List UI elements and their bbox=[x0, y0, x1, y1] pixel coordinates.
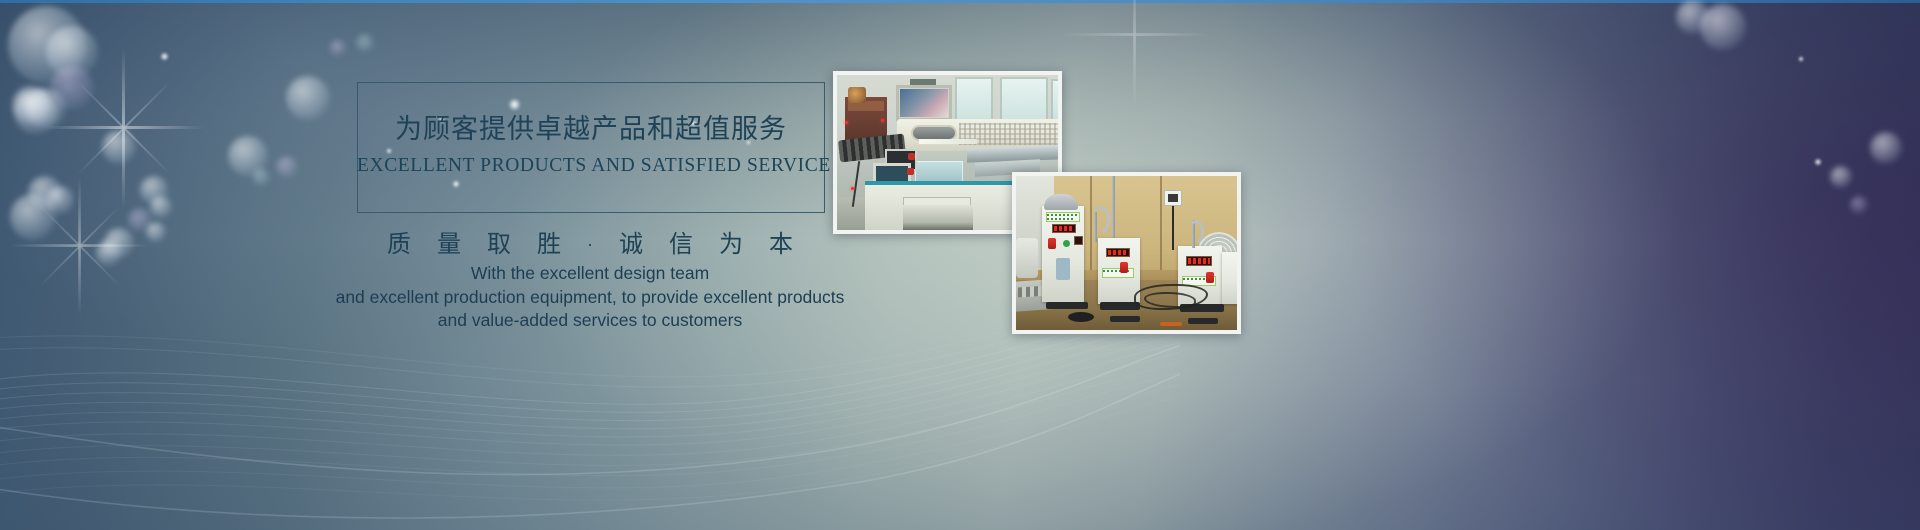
photo-content bbox=[1016, 176, 1237, 330]
foot-pedal bbox=[1110, 316, 1140, 322]
led-display bbox=[1052, 224, 1076, 233]
small-display bbox=[1074, 236, 1083, 245]
machine-cap bbox=[1044, 194, 1078, 210]
indicator-light bbox=[851, 187, 854, 190]
slogan-char: 信 bbox=[669, 231, 693, 258]
slogan-chinese: 质量取胜·诚信为本 bbox=[330, 224, 850, 259]
indicator-light bbox=[845, 121, 848, 124]
slogan-char: 诚 bbox=[619, 231, 643, 258]
slogan-char: 质 bbox=[387, 231, 411, 258]
sparkle bbox=[1798, 56, 1804, 62]
label-text bbox=[1047, 218, 1073, 220]
machine-part bbox=[1056, 258, 1070, 280]
red-button bbox=[1120, 262, 1128, 273]
bokeh-circle bbox=[1830, 166, 1852, 188]
bokeh-circle bbox=[1870, 132, 1902, 164]
paragraph-line: and value-added services to customers bbox=[260, 309, 920, 333]
vertical-pipe bbox=[1112, 176, 1115, 240]
paragraph-line: With the excellent design team bbox=[260, 262, 920, 286]
machine-lamp bbox=[919, 139, 977, 144]
label-text bbox=[1047, 214, 1077, 216]
description-paragraph: With the excellent design team and excel… bbox=[260, 262, 920, 333]
starburst-icon bbox=[1060, 0, 1210, 110]
glass-cover bbox=[915, 161, 963, 183]
headline-english: EXCELLENT PRODUCTS AND SATISFIED SERVICE bbox=[357, 155, 825, 177]
bokeh-circle bbox=[1700, 4, 1746, 50]
indicator-light bbox=[881, 119, 884, 122]
desk-opening bbox=[903, 205, 973, 230]
foot-pedal bbox=[1188, 318, 1218, 324]
slogan-char: 量 bbox=[437, 231, 461, 258]
slogan-separator-dot: · bbox=[587, 234, 593, 254]
slogan-char: 为 bbox=[719, 231, 743, 258]
paragraph-line: and excellent production equipment, to p… bbox=[260, 286, 920, 310]
wall-monitor bbox=[896, 85, 952, 121]
metal-tank bbox=[1016, 238, 1038, 278]
wall-outlet bbox=[1164, 190, 1182, 206]
bokeh-circle bbox=[1850, 196, 1868, 214]
red-button bbox=[908, 153, 915, 160]
power-cord bbox=[1172, 206, 1174, 250]
led-display bbox=[1186, 256, 1212, 266]
green-button bbox=[1063, 240, 1070, 247]
workshop-machines-photo[interactable] bbox=[1012, 172, 1241, 334]
sparkle bbox=[1814, 158, 1822, 166]
slogan-char: 取 bbox=[487, 231, 511, 258]
slogan-char: 本 bbox=[769, 231, 793, 258]
led-display bbox=[1106, 248, 1130, 257]
press-machine bbox=[1222, 252, 1241, 304]
decor-object bbox=[848, 87, 866, 103]
rubber-disc bbox=[1068, 312, 1094, 322]
orange-tool bbox=[1160, 322, 1182, 326]
red-button bbox=[1048, 238, 1056, 249]
headline-chinese: 为顾客提供卓越产品和超值服务 bbox=[357, 107, 825, 146]
slogan-char: 胜 bbox=[537, 231, 561, 258]
red-button bbox=[907, 168, 914, 175]
red-button bbox=[1206, 272, 1214, 283]
bokeh-circle bbox=[1676, 0, 1710, 34]
headline-frame bbox=[357, 82, 825, 213]
machine-base bbox=[1046, 302, 1088, 309]
company-slogan-banner: 为顾客提供卓越产品和超值服务 EXCELLENT PRODUCTS AND SA… bbox=[0, 0, 1920, 530]
